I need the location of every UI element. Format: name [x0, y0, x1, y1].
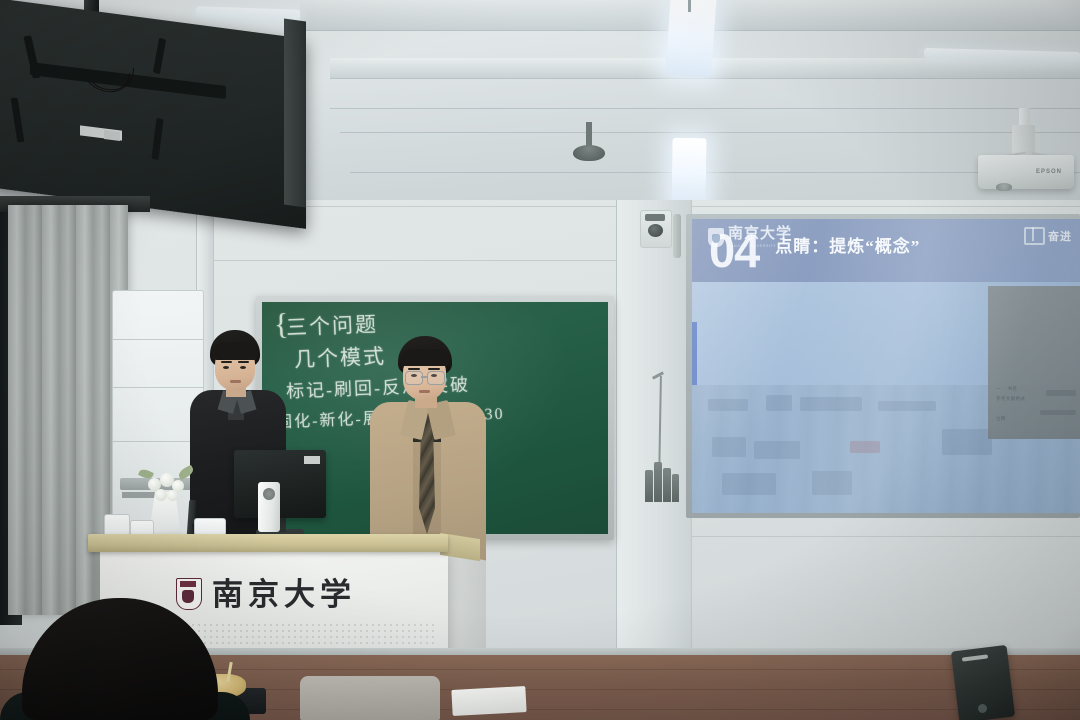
slide-inset-image: 一 书名 参考文献格式 注释 — [988, 286, 1080, 439]
slide-logo-chinese: 南京大学 — [728, 227, 792, 242]
podium-top-surface — [88, 534, 448, 552]
tv-panel-edge — [284, 19, 306, 208]
university-shield-icon — [708, 228, 724, 247]
podium-university-logo: 南京大学 — [176, 578, 356, 610]
projector: EPSON — [978, 155, 1074, 189]
open-book-icon — [1024, 227, 1045, 245]
wall-pillar — [616, 200, 692, 660]
ceiling-seam — [330, 108, 1080, 109]
flower — [155, 489, 167, 501]
wall-cable-conduit — [673, 214, 681, 258]
flower — [167, 490, 178, 501]
light-stem — [688, 0, 691, 12]
microphone-badge-icon — [263, 488, 275, 500]
wall-camera-slot — [645, 214, 665, 221]
projector-brand-label: EPSON — [1036, 169, 1062, 175]
blackboard-line: 三个问题 — [285, 308, 378, 342]
slide-corner-badge: 奋进 — [1024, 227, 1072, 245]
ceiling-seam — [340, 132, 1080, 133]
desk-papers — [451, 686, 526, 716]
slide-logo-english: NANJING UNIVERSITY — [728, 244, 792, 248]
slide-band-accent-bar — [692, 322, 697, 385]
projector-lens — [996, 183, 1012, 191]
monitor-label-tag — [304, 456, 320, 464]
podium-university-name: 南京大学 — [212, 579, 356, 610]
dome-camera-icon — [573, 145, 605, 161]
ceiling-seam — [350, 172, 1080, 173]
presenter-left-fringe — [212, 342, 258, 360]
inset-caption: 一 书名 — [996, 386, 1017, 392]
projection-screen[interactable]: 南京大学 NANJING UNIVERSITY 奋进 04 点睛：提炼“概念” — [692, 219, 1080, 513]
handheld-device-button[interactable] — [978, 704, 987, 713]
eyeglasses-icon — [427, 371, 445, 385]
inset-caption: 参考文献格式 — [996, 396, 1025, 402]
slide-badge-text: 奋进 — [1048, 228, 1072, 244]
slide-university-logo: 南京大学 NANJING UNIVERSITY — [708, 227, 792, 248]
tv-panel-rear — [0, 0, 306, 229]
slide-heading: 点睛：提炼“概念” — [775, 232, 920, 257]
tv-label — [104, 130, 120, 141]
inset-caption: 注释 — [996, 416, 1006, 422]
classroom-photo-scene: 南京大学 NANJING UNIVERSITY 奋进 04 点睛：提炼“概念” — [0, 0, 1080, 720]
eyeglasses-bridge — [421, 376, 428, 378]
classroom-chair[interactable] — [300, 676, 440, 720]
university-shield-icon — [176, 578, 202, 610]
wall-camera-lens-icon — [648, 224, 663, 237]
fluorescent-tube-light — [665, 0, 717, 78]
eyeglasses-icon — [405, 371, 423, 385]
presenter-right-fringe — [400, 349, 450, 366]
fluorescent-tube-light — [671, 138, 706, 207]
